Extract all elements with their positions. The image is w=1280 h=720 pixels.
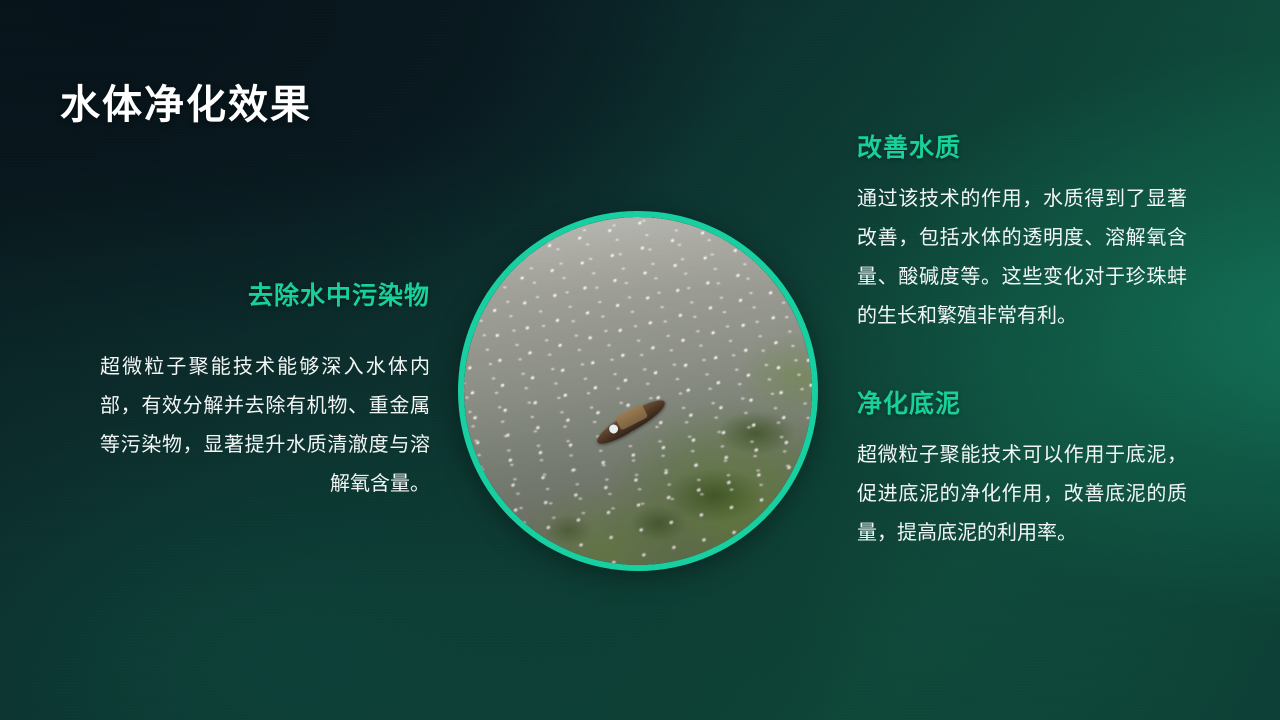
left-section-body: 超微粒子聚能技术能够深入水体内部，有效分解并去除有机物、重金属等污染物，显著提升…: [100, 348, 430, 504]
left-text-column: 去除水中污染物 超微粒子聚能技术能够深入水体内部，有效分解并去除有机物、重金属等…: [100, 276, 430, 504]
right-block-sediment: 净化底泥 超微粒子聚能技术可以作用于底泥，促进底泥的净化作用，改善底泥的质量，提…: [857, 384, 1187, 553]
right-section-heading-1: 改善水质: [857, 128, 1187, 164]
page-title: 水体净化效果: [60, 81, 312, 129]
right-text-column: 改善水质 通过该技术的作用，水质得到了显著改善，包括水体的透明度、溶解氧含量、酸…: [857, 128, 1187, 553]
slide-canvas: 水体净化效果 去除水中污染物 超微粒子聚能技术能够深入水体内部，有效分解并去除有…: [0, 0, 1280, 720]
circular-photo: [458, 211, 818, 571]
right-section-heading-2: 净化底泥: [857, 384, 1187, 420]
right-block-water-quality: 改善水质 通过该技术的作用，水质得到了显著改善，包括水体的透明度、溶解氧含量、酸…: [857, 128, 1187, 336]
left-section-heading: 去除水中污染物: [100, 276, 430, 312]
pond-aerial-image: [464, 217, 812, 565]
right-section-body-2: 超微粒子聚能技术可以作用于底泥，促进底泥的净化作用，改善底泥的质量，提高底泥的利…: [857, 436, 1187, 553]
right-section-body-1: 通过该技术的作用，水质得到了显著改善，包括水体的透明度、溶解氧含量、酸碱度等。这…: [857, 180, 1187, 336]
water-sheen-layer: [464, 217, 812, 565]
